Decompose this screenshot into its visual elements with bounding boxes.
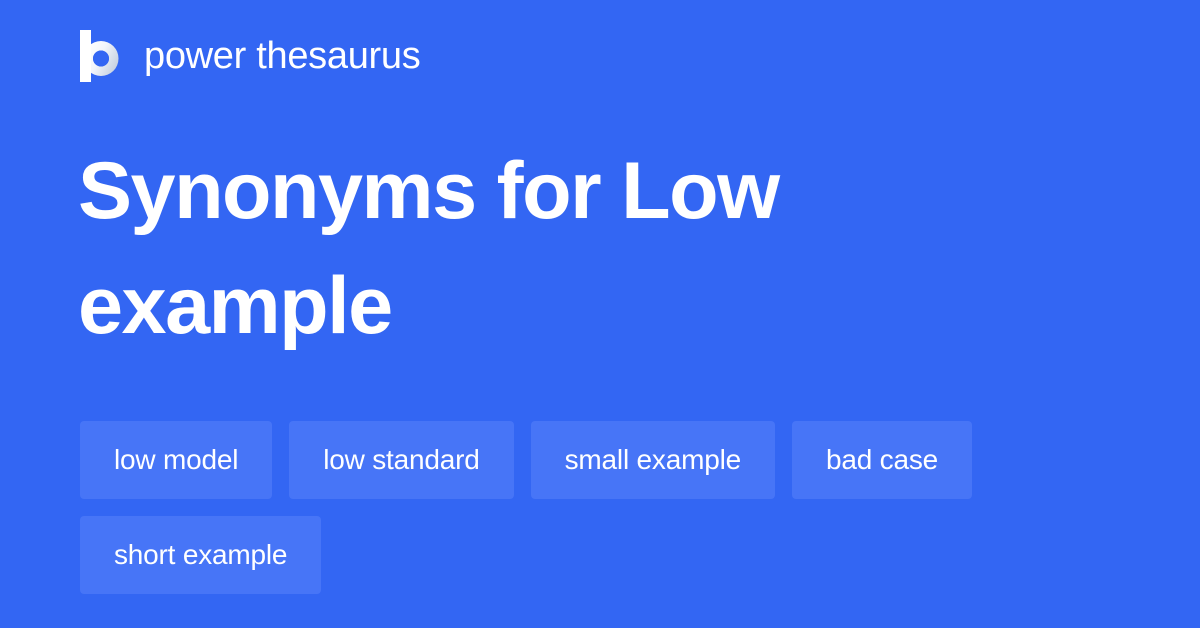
brand-name: power thesaurus xyxy=(144,37,420,75)
synonym-chip[interactable]: low standard xyxy=(289,421,513,499)
page-title: Synonyms for Low example xyxy=(78,134,1078,364)
synonym-chip[interactable]: small example xyxy=(531,421,775,499)
synonym-chip[interactable]: short example xyxy=(80,516,321,594)
synonym-chip[interactable]: low model xyxy=(80,421,272,499)
synonym-chip[interactable]: bad case xyxy=(792,421,972,499)
share-card: power thesaurus Synonyms for Low example… xyxy=(0,0,1200,628)
brand-lockup[interactable]: power thesaurus xyxy=(80,28,420,84)
power-thesaurus-b-logo-icon xyxy=(80,30,126,82)
synonym-chip-list: low model low standard small example bad… xyxy=(80,421,1080,594)
